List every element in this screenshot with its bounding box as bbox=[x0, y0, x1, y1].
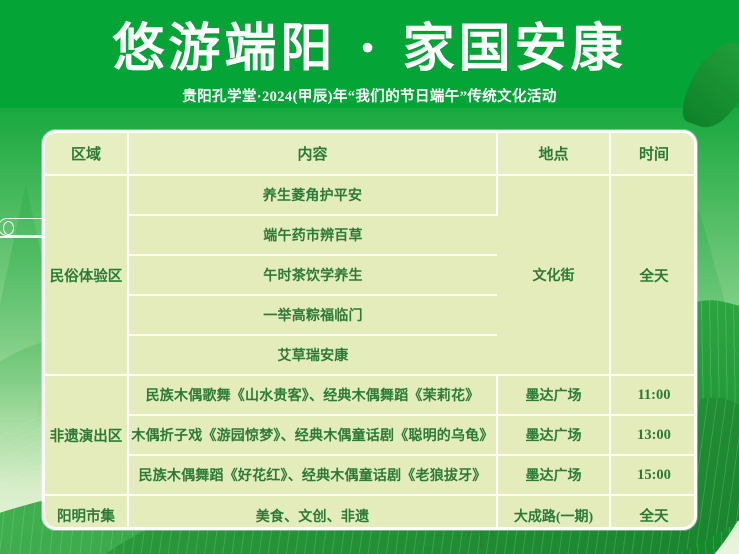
cell-content: 端午药市辨百草 bbox=[128, 215, 497, 255]
column-header-place: 地点 bbox=[497, 133, 610, 175]
table-row: 阳明市集 美食、文创、非遗 大成路(一期) 全天 bbox=[45, 495, 697, 530]
cell-place: 墨达广场 bbox=[497, 375, 610, 415]
schedule-table: 区域 内容 地点 时间 民俗体验区 养生菱角护平安 文化街 全天 端午药市辨百草… bbox=[45, 133, 697, 530]
column-header-time: 时间 bbox=[610, 133, 697, 175]
table-header-row: 区域 内容 地点 时间 bbox=[45, 133, 697, 175]
cell-content: 美食、文创、非遗 bbox=[128, 495, 497, 530]
column-header-area: 区域 bbox=[45, 133, 128, 175]
cell-place: 墨达广场 bbox=[497, 455, 610, 495]
table-body: 民俗体验区 养生菱角护平安 文化街 全天 端午药市辨百草 午时茶饮学养生 一举高… bbox=[45, 175, 697, 530]
table-row: 木偶折子戏《游园惊梦》、经典木偶童话剧《聪明的乌龟》 墨达广场 13:00 bbox=[45, 415, 697, 455]
schedule-card: 区域 内容 地点 时间 民俗体验区 养生菱角护平安 文化街 全天 端午药市辨百草… bbox=[42, 130, 697, 530]
page-subtitle: 贵阳孔学堂·2024(甲辰)年“我们的节日端午”传统文化活动 bbox=[0, 85, 739, 106]
cell-place-folk: 文化街 bbox=[497, 175, 610, 375]
column-header-content: 内容 bbox=[128, 133, 497, 175]
cell-content: 一举高粽福临门 bbox=[128, 295, 497, 335]
table-row: 非遗演出区 民族木偶歌舞《山水贵客》、经典木偶舞蹈《茉莉花》 墨达广场 11:0… bbox=[45, 375, 697, 415]
table-row: 民族木偶舞蹈《好花红》、经典木偶童话剧《老狼拔牙》 墨达广场 15:00 bbox=[45, 455, 697, 495]
cell-time: 全天 bbox=[610, 495, 697, 530]
cell-content: 木偶折子戏《游园惊梦》、经典木偶童话剧《聪明的乌龟》 bbox=[128, 415, 497, 455]
cell-area-heritage: 非遗演出区 bbox=[45, 375, 128, 495]
cell-place: 墨达广场 bbox=[497, 415, 610, 455]
page-title: 悠游端阳 · 家国安康 bbox=[0, 22, 739, 77]
cell-time-folk: 全天 bbox=[610, 175, 697, 375]
cell-content: 民族木偶歌舞《山水贵客》、经典木偶舞蹈《茉莉花》 bbox=[128, 375, 497, 415]
cell-place: 大成路(一期) bbox=[497, 495, 610, 530]
table-row: 民俗体验区 养生菱角护平安 文化街 全天 bbox=[45, 175, 697, 215]
cell-time: 15:00 bbox=[610, 455, 697, 495]
cell-content: 民族木偶舞蹈《好花红》、经典木偶童话剧《老狼拔牙》 bbox=[128, 455, 497, 495]
cell-content: 养生菱角护平安 bbox=[128, 175, 497, 215]
cell-area-market: 阳明市集 bbox=[45, 495, 128, 530]
cell-area-folk: 民俗体验区 bbox=[45, 175, 128, 375]
cell-time: 11:00 bbox=[610, 375, 697, 415]
cell-time: 13:00 bbox=[610, 415, 697, 455]
poster-header: 悠游端阳 · 家国安康 贵阳孔学堂·2024(甲辰)年“我们的节日端午”传统文化… bbox=[0, 0, 739, 106]
cell-content: 艾草瑞安康 bbox=[128, 335, 497, 375]
cell-content: 午时茶饮学养生 bbox=[128, 255, 497, 295]
